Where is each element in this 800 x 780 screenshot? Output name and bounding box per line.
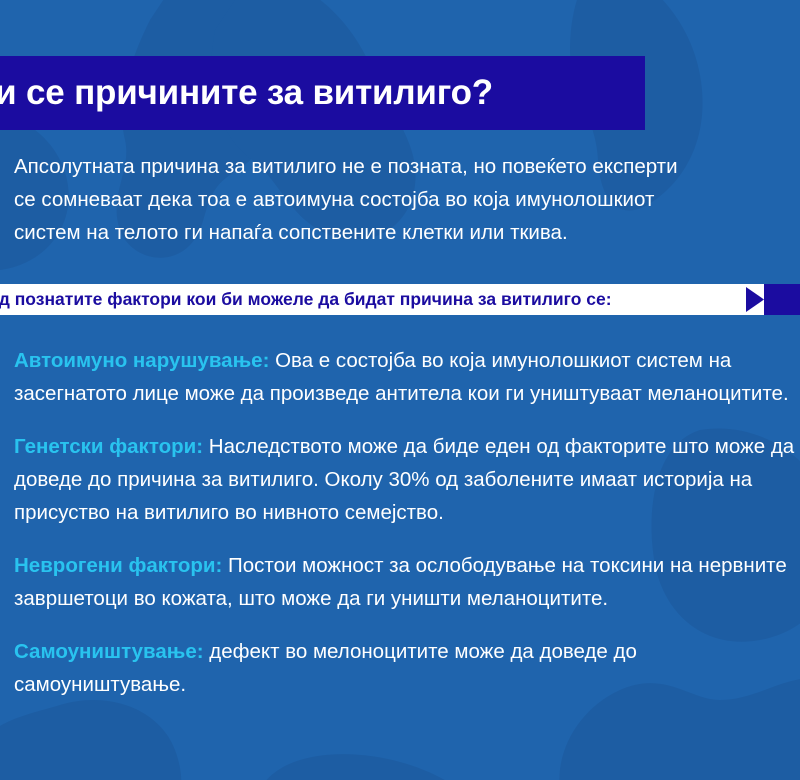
- list-item-label: Генетски фактори:: [14, 435, 203, 458]
- sub-header-bar: ои од познатите фактори кои би можеле да…: [0, 284, 775, 315]
- list-item-label: Автоимуно нарушување:: [14, 349, 269, 372]
- title-banner: ои се причините за витилиго?: [0, 56, 645, 130]
- slide-canvas: ои се причините за витилиго? Апсолутната…: [0, 0, 800, 780]
- sub-header-banner: ои од познатите фактори кои би можеле да…: [0, 284, 800, 315]
- sub-header-label: ои од познатите фактори кои би можеле да…: [0, 284, 612, 315]
- intro-paragraph: Апсолутната причина за витилиго не е поз…: [14, 150, 800, 249]
- list-item: Неврогени фактори: Постои можност за осл…: [14, 549, 800, 615]
- list-item: Генетски фактори: Наследството може да б…: [14, 430, 800, 529]
- chevron-right-icon: [738, 284, 780, 315]
- factors-list: Автоимуно нарушување: Ова е состојба во …: [14, 344, 800, 721]
- list-item: Автоимуно нарушување: Ова е состојба во …: [14, 344, 800, 410]
- list-item-label: Самоуништување:: [14, 640, 204, 663]
- list-item: Самоуништување: дефект во мелоноцитите м…: [14, 635, 800, 701]
- list-item-label: Неврогени фактори:: [14, 554, 222, 577]
- page-title: ои се причините за витилиго?: [0, 73, 493, 113]
- blob-bottom-center: [260, 754, 460, 780]
